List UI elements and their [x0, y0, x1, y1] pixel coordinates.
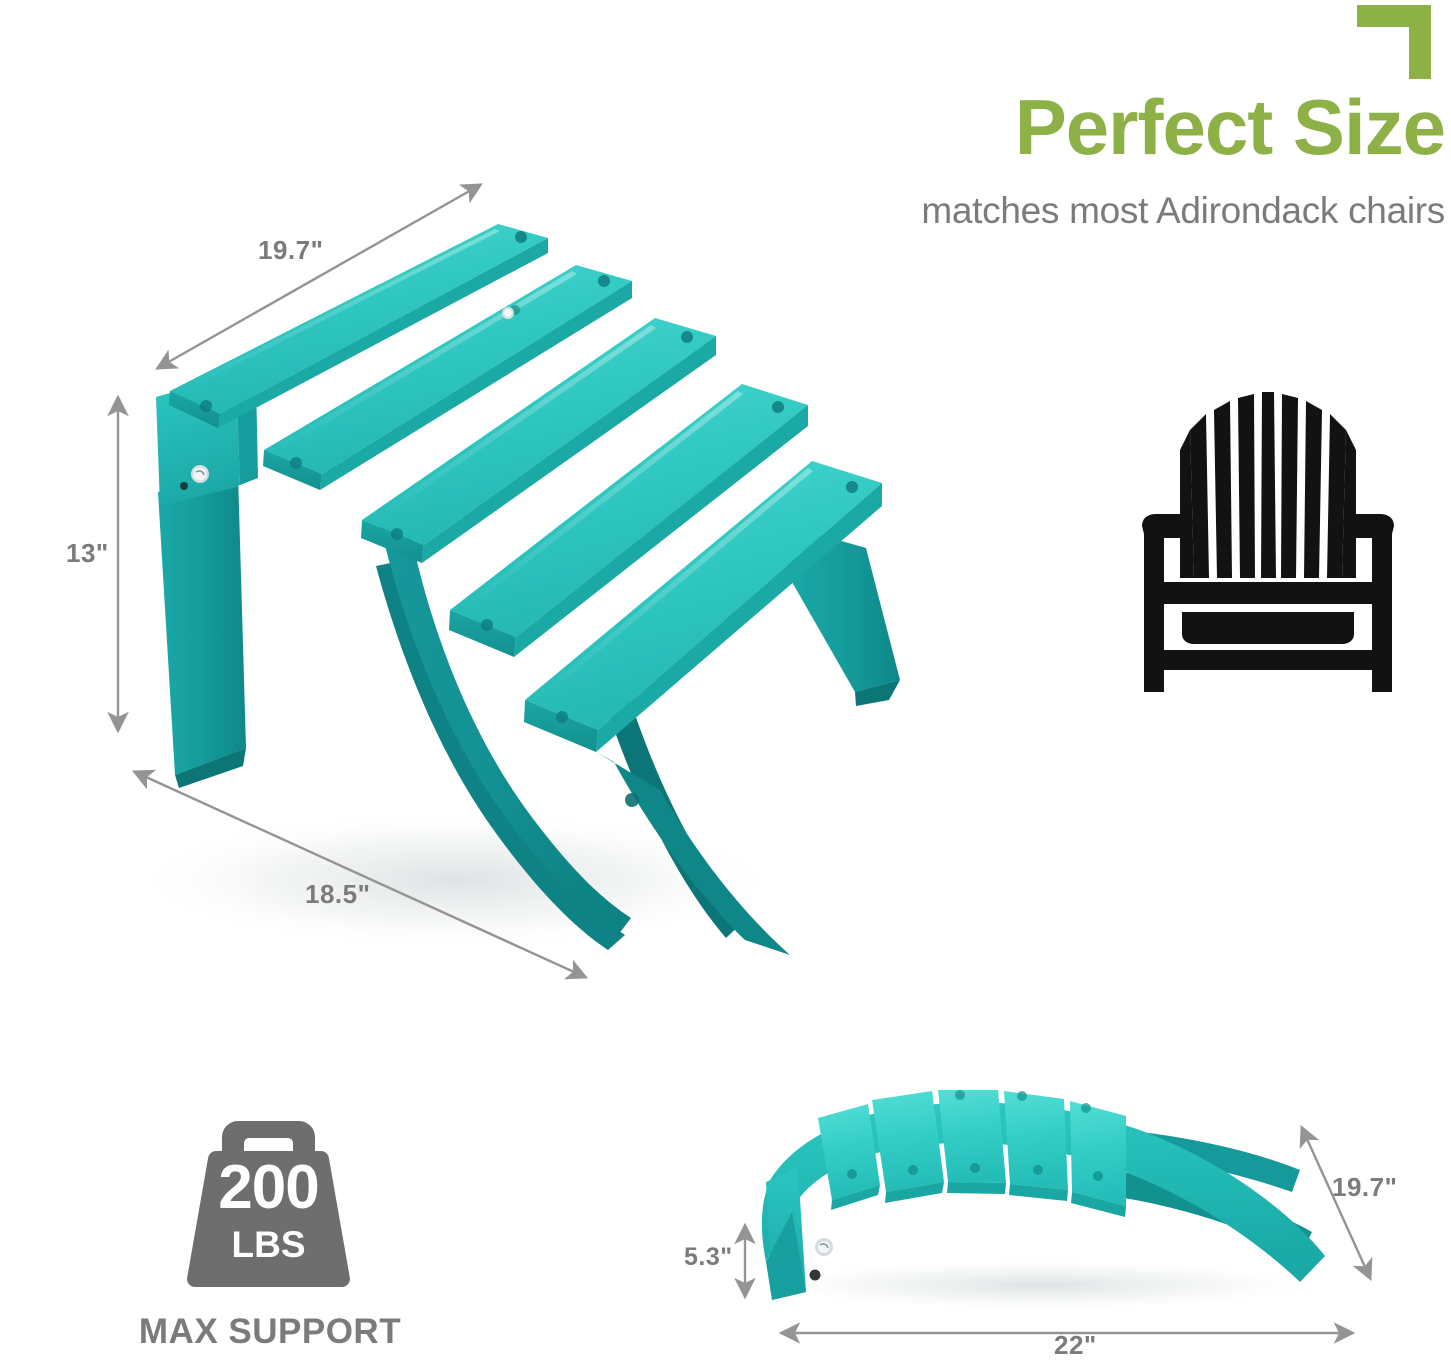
dimension-label-folded-length: 22" — [1054, 1330, 1097, 1361]
infographic-canvas: Perfect Size matches most Adirondack cha… — [0, 0, 1451, 1369]
dimension-arrow-folded-depth — [1302, 1128, 1370, 1278]
dimension-label-folded-height: 5.3" — [684, 1243, 733, 1272]
dimension-label-folded-depth: 19.7" — [1332, 1172, 1397, 1203]
folded-dimension-arrows — [0, 0, 1451, 1369]
